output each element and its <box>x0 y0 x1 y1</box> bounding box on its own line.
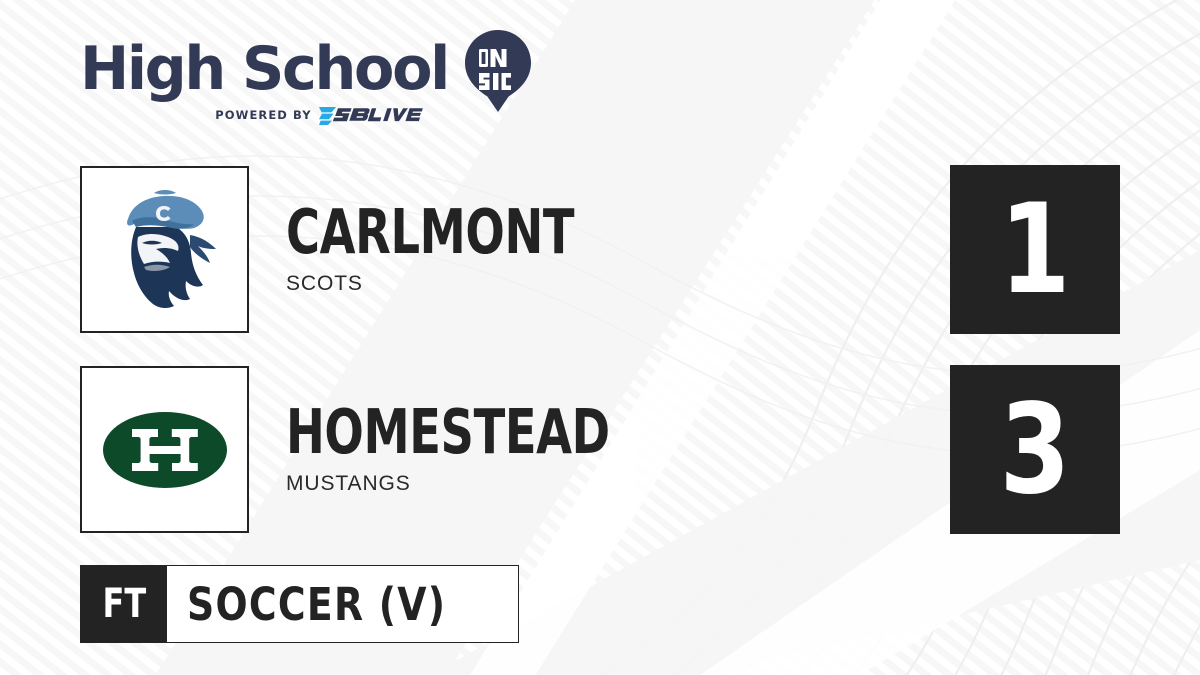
logo-main-row: High School <box>80 34 510 104</box>
team-mascot: SCOTS <box>286 272 646 296</box>
team-mascot: MUSTANGS <box>286 472 691 496</box>
carlmont-scots-logo-icon <box>90 175 240 325</box>
team-identity: HOMESTEAD MUSTANGS <box>286 366 691 533</box>
sport-label: SOCCER (V) <box>187 578 446 631</box>
team-score: 3 <box>1000 388 1070 512</box>
homestead-mustangs-logo-icon <box>90 375 240 525</box>
powered-by-label: POWERED BY <box>215 108 311 122</box>
scoreboard-card: High School POW <box>0 0 1200 675</box>
team-logo-box <box>80 366 249 533</box>
team-row: HOMESTEAD MUSTANGS 3 <box>0 366 1200 534</box>
team-score: 1 <box>1000 188 1070 312</box>
team-name: HOMESTEAD <box>286 402 610 461</box>
powered-by-row: POWERED BY <box>80 105 510 125</box>
status-code-badge: FT <box>81 566 167 642</box>
status-code-label: FT <box>102 581 146 627</box>
sport-label-panel: SOCCER (V) <box>167 566 518 642</box>
on-si-pin-icon <box>465 30 531 112</box>
team-name: CARLMONT <box>286 202 574 261</box>
sblive-logo-icon <box>319 105 423 125</box>
team-score-box: 3 <box>950 365 1120 534</box>
team-score-box: 1 <box>950 165 1120 334</box>
game-status-bar: FT SOCCER (V) <box>80 565 519 643</box>
team-identity: CARLMONT SCOTS <box>286 166 646 333</box>
site-logo[interactable]: High School POW <box>80 34 510 134</box>
team-row: CARLMONT SCOTS 1 <box>0 166 1200 334</box>
team-logo-box <box>80 166 249 333</box>
logo-wordmark: High School <box>80 38 448 100</box>
